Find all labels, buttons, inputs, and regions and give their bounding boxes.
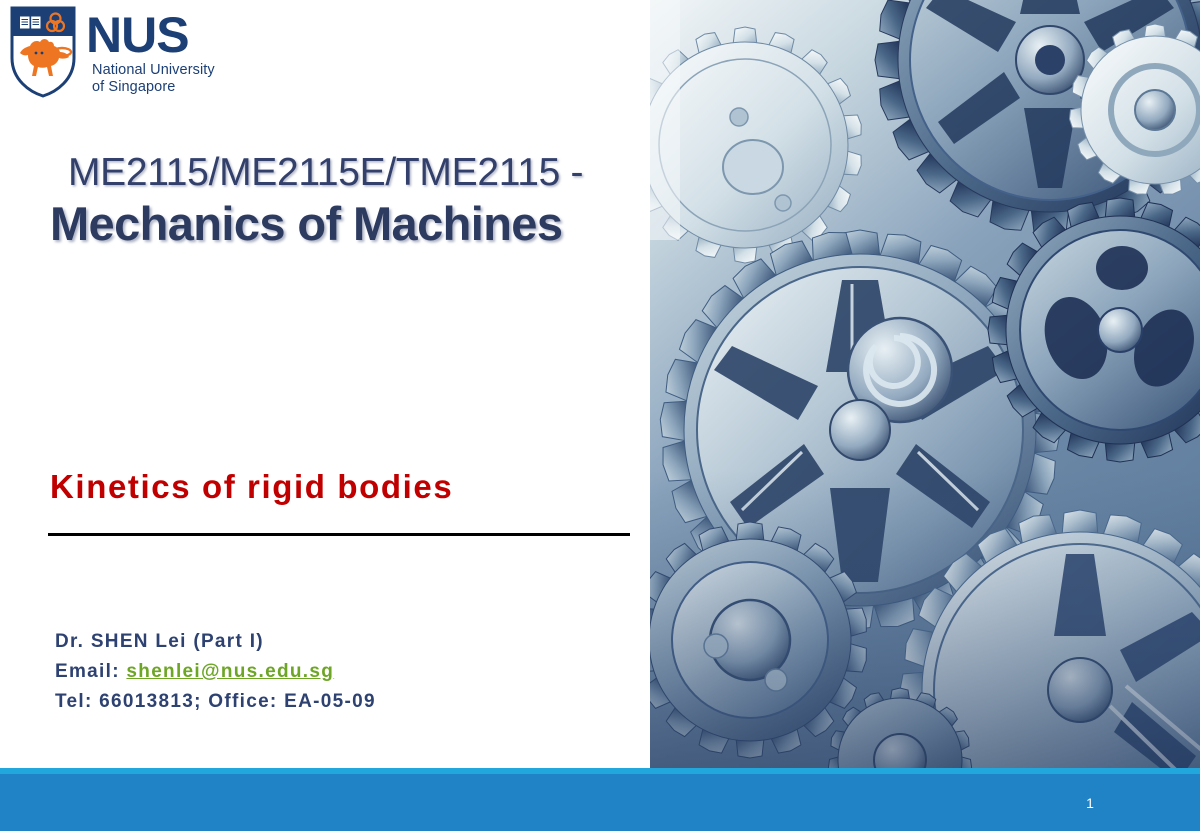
- gears-photo: [650, 0, 1200, 771]
- course-code: ME2115/ME2115E/TME2115 -: [48, 150, 638, 196]
- page-title: Mechanics of Machines: [48, 196, 638, 252]
- nus-full-name-line1: National University: [92, 62, 215, 79]
- nus-wordmark: NUS: [86, 8, 189, 62]
- nus-full-name-line2: of Singapore: [92, 79, 215, 96]
- nus-logo: NUS National University of Singapore: [10, 6, 230, 102]
- content-pane: NUS National University of Singapore ME2…: [0, 0, 650, 770]
- nus-full-name: National University of Singapore: [92, 62, 215, 96]
- contact-block: Dr. SHEN Lei (Part I) Email: shenlei@nus…: [55, 627, 376, 717]
- footer-bar: [0, 774, 1200, 831]
- email-link[interactable]: shenlei@nus.edu.sg: [126, 661, 334, 682]
- title-block: ME2115/ME2115E/TME2115 - Mechanics of Ma…: [48, 150, 638, 252]
- phone-office-line: Tel: 66013813; Office: EA-05-09: [55, 687, 376, 717]
- email-line: Email: shenlei@nus.edu.sg: [55, 657, 376, 687]
- gears-illustration: [650, 0, 1200, 771]
- slide-number: 1: [1078, 795, 1102, 811]
- topic-subtitle: Kinetics of rigid bodies: [50, 468, 453, 506]
- presenter-name: Dr. SHEN Lei (Part I): [55, 627, 376, 657]
- slide-title-page: NUS National University of Singapore ME2…: [0, 0, 1200, 831]
- nus-crest-shield-icon: [10, 6, 76, 98]
- horizontal-divider: [48, 533, 630, 536]
- email-label: Email:: [55, 661, 120, 682]
